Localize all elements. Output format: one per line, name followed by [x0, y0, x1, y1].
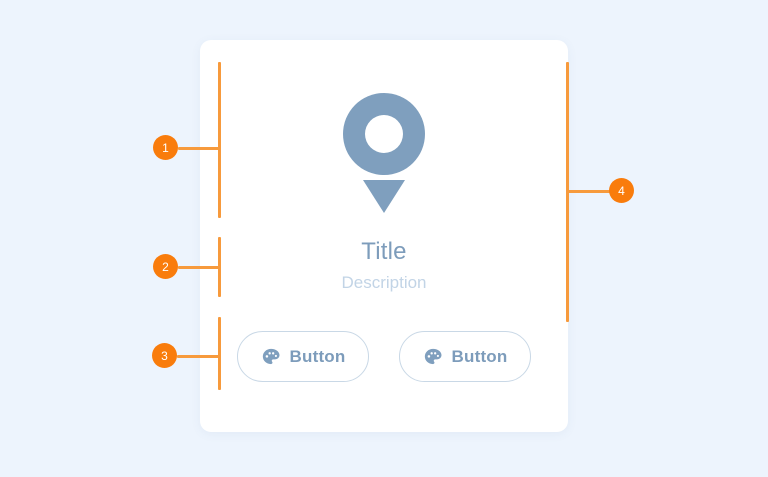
annotation-leader-1: [178, 147, 219, 150]
card-title: Title: [200, 238, 568, 266]
map-pin-point: [363, 180, 405, 213]
card-button-2[interactable]: Button: [399, 331, 531, 382]
annotation-badge-3[interactable]: 3: [152, 343, 177, 368]
card-button-2-label: Button: [452, 347, 508, 367]
palette-icon: [261, 347, 281, 367]
annotated-card-diagram: Title Description Button: [0, 0, 768, 477]
annotation-badge-4[interactable]: 4: [609, 178, 634, 203]
annotation-leader-3: [177, 355, 219, 358]
annotation-badge-2[interactable]: 2: [153, 254, 178, 279]
map-pin-icon: [343, 93, 425, 215]
annotation-bracket-3: [218, 317, 221, 390]
content-card: Title Description Button: [200, 40, 568, 432]
palette-icon: [423, 347, 443, 367]
annotation-badge-1[interactable]: 1: [153, 135, 178, 160]
map-pin-ring: [343, 93, 425, 175]
card-description: Description: [200, 273, 568, 293]
card-button-1[interactable]: Button: [237, 331, 369, 382]
card-actions: Button Button: [200, 331, 568, 382]
annotation-leader-2: [178, 266, 219, 269]
annotation-leader-4: [568, 190, 610, 193]
annotation-bracket-1: [218, 62, 221, 218]
card-button-1-label: Button: [290, 347, 346, 367]
